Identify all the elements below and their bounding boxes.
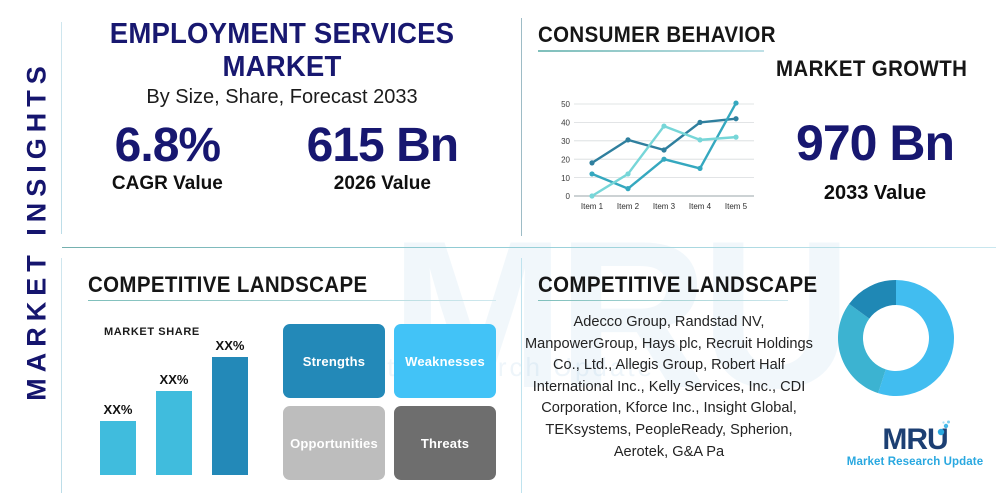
divider-vertical-left-top [61, 22, 62, 234]
swot-box-threats[interactable]: Threats [394, 406, 496, 480]
brand-logo: MRU Market Research Update [845, 425, 985, 468]
stat-cagr-label: CAGR Value [112, 173, 223, 195]
left-rail: MARKET INSIGHTS [0, 0, 62, 500]
divider-vertical-left-bottom [61, 258, 62, 493]
divider-horizontal [62, 247, 996, 248]
bar-rect [212, 357, 248, 475]
svg-text:Item 3: Item 3 [653, 202, 676, 211]
page-title: EMPLOYMENT SERVICES MARKET [73, 18, 491, 84]
rail-label: MARKET INSIGHTS [22, 21, 53, 441]
svg-text:10: 10 [561, 174, 570, 183]
bar-column: XX% [212, 338, 248, 475]
logo-bubbles-icon [937, 420, 951, 436]
donut-chart [820, 262, 972, 414]
logo-tagline: Market Research Update [845, 456, 985, 468]
market-share-bar-chart: XX%XX%XX% [100, 330, 255, 475]
market-growth-heading: MARKET GROWTH [776, 56, 967, 82]
stat-2026-value: 615 Bn [307, 122, 458, 171]
headline-stats: 6.8% CAGR Value 615 Bn 2026 Value [70, 122, 500, 195]
line-chart: 01020304050Item 1Item 2Item 3Item 4Item … [548, 98, 758, 216]
competitive-landscape-left-heading: COMPETITIVE LANDSCAPE [88, 272, 368, 298]
bar-value-label: XX% [160, 372, 189, 387]
competitive-landscape-left-rule [88, 300, 496, 301]
svg-text:40: 40 [561, 119, 570, 128]
swot-grid: StrengthsWeaknessesOpportunitiesThreats [283, 324, 496, 480]
svg-text:Item 2: Item 2 [617, 202, 640, 211]
swot-box-opportunities[interactable]: Opportunities [283, 406, 385, 480]
svg-text:0: 0 [566, 192, 571, 201]
svg-text:Item 4: Item 4 [689, 202, 712, 211]
svg-text:Item 5: Item 5 [725, 202, 748, 211]
stat-2026-label: 2026 Value [307, 173, 458, 195]
swot-box-strengths[interactable]: Strengths [283, 324, 385, 398]
stat-cagr: 6.8% CAGR Value [112, 122, 223, 195]
svg-text:20: 20 [561, 155, 570, 164]
company-list: Adecco Group, Randstad NV, ManpowerGroup… [524, 312, 814, 463]
competitive-landscape-right-heading: COMPETITIVE LANDSCAPE [538, 272, 818, 298]
svg-text:30: 30 [561, 137, 570, 146]
bar-value-label: XX% [104, 402, 133, 417]
svg-text:50: 50 [561, 100, 570, 109]
swot-box-weaknesses[interactable]: Weaknesses [394, 324, 496, 398]
divider-vertical-mid-top [521, 18, 522, 236]
bar-value-label: XX% [216, 338, 245, 353]
stat-2026: 615 Bn 2026 Value [307, 122, 458, 195]
competitive-landscape-right-rule [538, 300, 788, 301]
logo-mark-left: MR [882, 423, 927, 456]
divider-vertical-mid-bottom [521, 258, 522, 493]
consumer-behavior-heading: CONSUMER BEHAVIOR [538, 22, 776, 48]
page-subtitle: By Size, Share, Forecast 2033 [62, 86, 502, 109]
market-growth-label: 2033 Value [760, 182, 990, 205]
infographic-canvas: MRU Market Research Update MARKET INSIGH… [0, 0, 1000, 500]
logo-mark: MRU [882, 425, 947, 455]
bar-column: XX% [100, 402, 136, 475]
bar-column: XX% [156, 372, 192, 475]
stat-cagr-value: 6.8% [112, 122, 223, 171]
bar-rect [156, 391, 192, 475]
consumer-behavior-rule [538, 50, 764, 52]
bar-rect [100, 421, 136, 475]
market-growth-value: 970 Bn [760, 118, 990, 168]
donut-segment [838, 304, 886, 393]
svg-text:Item 1: Item 1 [581, 202, 604, 211]
